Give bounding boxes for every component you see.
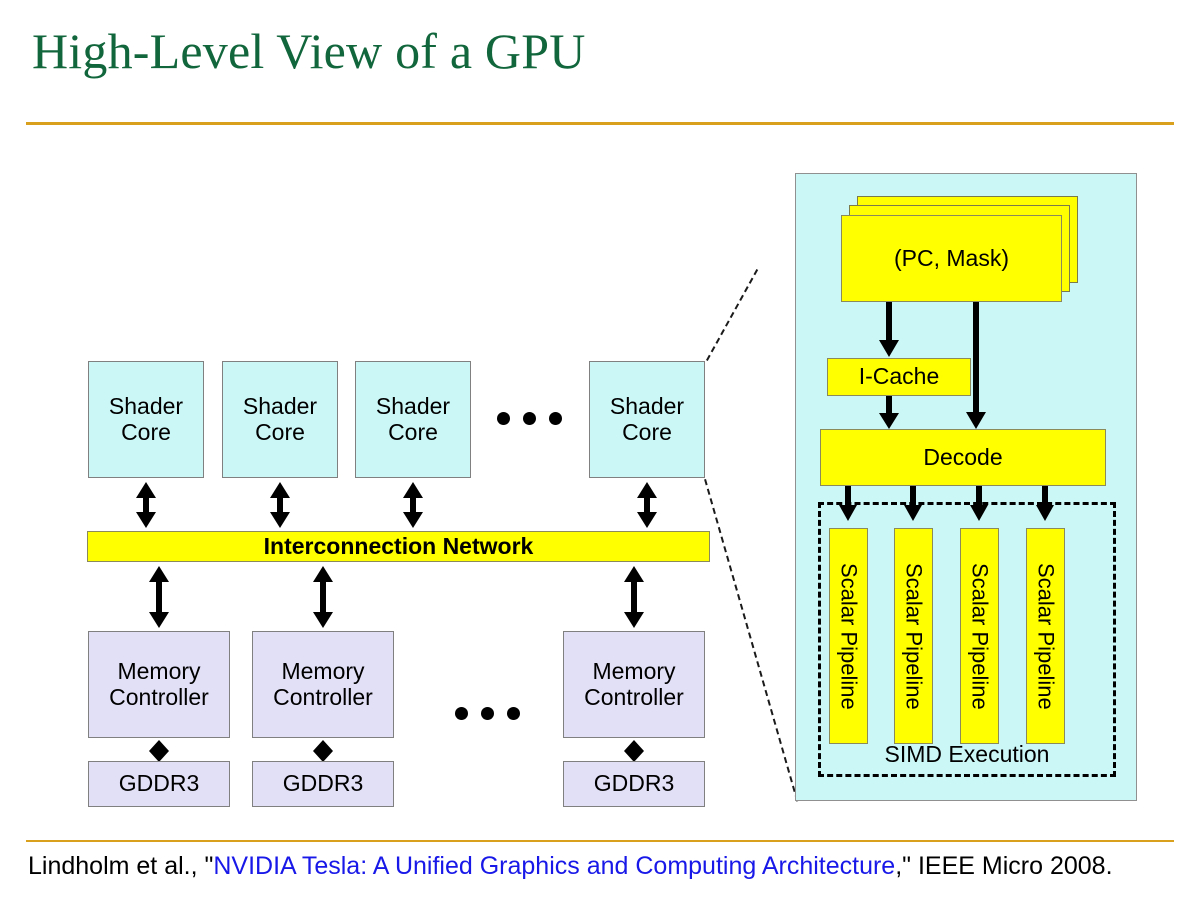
- footer-divider: [26, 840, 1174, 842]
- scalar-pipeline-box-3[interactable]: Scalar Pipeline: [1026, 528, 1065, 744]
- scalar-pipeline-label: Scalar Pipeline: [1035, 563, 1057, 710]
- shader-core-detail-panel: (PC, Mask) I-Cache Decode SIMD Execution…: [795, 173, 1137, 801]
- memory-controller-box-1[interactable]: Memory Controller: [252, 631, 394, 738]
- citation: Lindholm et al., "NVIDIA Tesla: A Unifie…: [28, 852, 1113, 881]
- citation-suffix: ," IEEE Micro 2008.: [895, 852, 1112, 880]
- decode-box[interactable]: Decode: [820, 429, 1106, 486]
- dram-box-2[interactable]: GDDR3: [563, 761, 705, 807]
- arrow-memory-controller-0-to-dram-0: [146, 739, 172, 763]
- shader-core-box-3[interactable]: Shader Core: [589, 361, 705, 478]
- dram-box-0[interactable]: GDDR3: [88, 761, 230, 807]
- ellipsis-dot: [507, 707, 520, 720]
- ellipsis-dot: [523, 412, 536, 425]
- simd-execution-label: SIMD Execution: [821, 741, 1113, 768]
- scalar-pipeline-box-2[interactable]: Scalar Pipeline: [960, 528, 999, 744]
- arrow-icache-to-decode: [876, 396, 902, 430]
- memory-controller-ellipsis: [455, 707, 520, 720]
- arrow-shader-core-1-to-interconnect: [267, 480, 293, 530]
- callout-line-top: [706, 269, 758, 361]
- scalar-pipeline-label: Scalar Pipeline: [903, 563, 925, 710]
- interconnection-network-bar[interactable]: Interconnection Network: [87, 531, 710, 562]
- memory-controller-box-2[interactable]: Memory Controller: [563, 631, 705, 738]
- memory-controller-box-0[interactable]: Memory Controller: [88, 631, 230, 738]
- citation-prefix: Lindholm et al., ": [28, 852, 213, 880]
- scalar-pipeline-label: Scalar Pipeline: [969, 563, 991, 710]
- arrow-memory-controller-1-to-dram-1: [310, 739, 336, 763]
- arrow-shader-core-3-to-interconnect: [634, 480, 660, 530]
- arrow-shader-core-0-to-interconnect: [133, 480, 159, 530]
- scalar-pipeline-box-0[interactable]: Scalar Pipeline: [829, 528, 868, 744]
- ellipsis-dot: [455, 707, 468, 720]
- arrow-warp-state-to-icache: [876, 302, 902, 358]
- arrow-memory-controller-2-to-dram-2: [621, 739, 647, 763]
- icache-box[interactable]: I-Cache: [827, 358, 971, 396]
- citation-paper-link[interactable]: NVIDIA Tesla: A Unified Graphics and Com…: [213, 852, 895, 880]
- arrow-interconnect-to-memory-controller-1: [310, 564, 336, 630]
- shader-core-box-0[interactable]: Shader Core: [88, 361, 204, 478]
- arrow-shader-core-2-to-interconnect: [400, 480, 426, 530]
- scalar-pipeline-box-1[interactable]: Scalar Pipeline: [894, 528, 933, 744]
- ellipsis-dot: [497, 412, 510, 425]
- ellipsis-dot: [549, 412, 562, 425]
- title-divider: [26, 122, 1174, 125]
- shader-core-box-1[interactable]: Shader Core: [222, 361, 338, 478]
- dram-box-1[interactable]: GDDR3: [252, 761, 394, 807]
- arrow-interconnect-to-memory-controller-0: [146, 564, 172, 630]
- arrow-interconnect-to-memory-controller-2: [621, 564, 647, 630]
- callout-line-bottom: [704, 479, 798, 802]
- page-title: High-Level View of a GPU: [32, 22, 586, 80]
- shader-core-ellipsis: [497, 412, 562, 425]
- scalar-pipeline-label: Scalar Pipeline: [838, 563, 860, 710]
- shader-core-box-2[interactable]: Shader Core: [355, 361, 471, 478]
- warp-state-box[interactable]: (PC, Mask): [841, 215, 1062, 302]
- ellipsis-dot: [481, 707, 494, 720]
